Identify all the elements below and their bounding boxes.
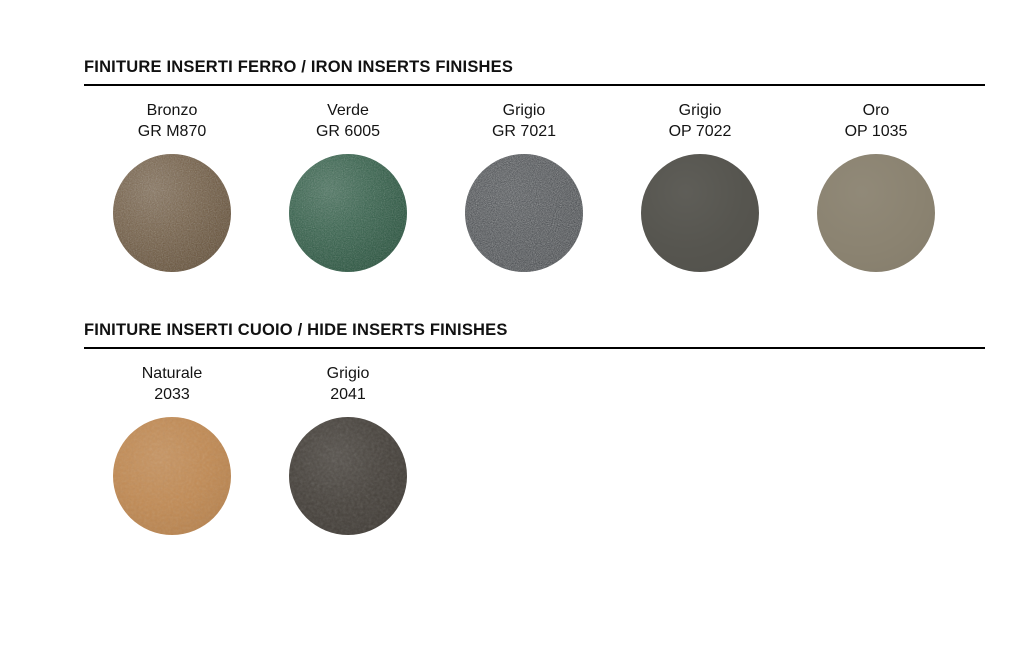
swatch-sheen <box>289 154 407 272</box>
swatch-code: GR M870 <box>138 121 206 142</box>
swatch-sheen <box>113 417 231 535</box>
swatch-disc-oro-1035[interactable] <box>817 154 935 272</box>
swatch-oro-op-1035[interactable]: Oro OP 1035 <box>788 100 964 272</box>
swatch-disc-wrap[interactable] <box>113 154 231 272</box>
swatch-name: Grigio <box>327 363 370 384</box>
swatch-disc-wrap[interactable] <box>465 154 583 272</box>
swatch-code: GR 6005 <box>316 121 380 142</box>
swatch-disc-wrap[interactable] <box>817 154 935 272</box>
swatch-disc-wrap[interactable] <box>113 417 231 535</box>
section-rule-iron <box>84 84 985 86</box>
swatch-caption: Oro OP 1035 <box>845 100 908 142</box>
swatch-name: Oro <box>845 100 908 121</box>
section-rule-hide <box>84 347 985 349</box>
section-header-iron: FINITURE INSERTI FERRO / IRON INSERTS FI… <box>84 58 985 78</box>
section-header-hide: FINITURE INSERTI CUOIO / HIDE INSERTS FI… <box>84 321 985 341</box>
swatch-sheen <box>289 417 407 535</box>
swatch-row-iron: Bronzo GR M870 <box>84 100 985 280</box>
swatch-code: 2033 <box>142 384 202 405</box>
swatch-caption: Grigio GR 7021 <box>492 100 556 142</box>
swatch-bronzo-gr-m870[interactable]: Bronzo GR M870 <box>84 100 260 272</box>
swatch-code: OP 7022 <box>669 121 732 142</box>
swatch-name: Grigio <box>669 100 732 121</box>
swatch-disc-verde[interactable] <box>289 154 407 272</box>
swatch-code: OP 1035 <box>845 121 908 142</box>
swatch-naturale-2033[interactable]: Naturale 2033 <box>84 363 260 535</box>
swatch-disc-grigio-2041[interactable] <box>289 417 407 535</box>
swatch-disc-wrap[interactable] <box>289 154 407 272</box>
swatch-caption: Verde GR 6005 <box>316 100 380 142</box>
swatch-disc-grigio-7022[interactable] <box>641 154 759 272</box>
finishes-sheet: FINITURE INSERTI FERRO / IRON INSERTS FI… <box>0 0 1030 661</box>
swatch-code: GR 7021 <box>492 121 556 142</box>
swatch-caption: Bronzo GR M870 <box>138 100 206 142</box>
swatch-disc-wrap[interactable] <box>289 417 407 535</box>
swatch-sheen <box>641 154 759 272</box>
swatch-name: Grigio <box>492 100 556 121</box>
swatch-disc-naturale[interactable] <box>113 417 231 535</box>
swatch-name: Bronzo <box>138 100 206 121</box>
swatch-grigio-2041[interactable]: Grigio 2041 <box>260 363 436 535</box>
swatch-caption: Naturale 2033 <box>142 363 202 405</box>
swatch-disc-wrap[interactable] <box>641 154 759 272</box>
swatch-disc-grigio-7021[interactable] <box>465 154 583 272</box>
swatch-code: 2041 <box>327 384 370 405</box>
section-iron-inserts: FINITURE INSERTI FERRO / IRON INSERTS FI… <box>84 58 985 86</box>
section-hide-inserts: FINITURE INSERTI CUOIO / HIDE INSERTS FI… <box>84 321 985 349</box>
swatch-grigio-gr-7021[interactable]: Grigio GR 7021 <box>436 100 612 272</box>
swatch-caption: Grigio OP 7022 <box>669 100 732 142</box>
swatch-sheen <box>817 154 935 272</box>
swatch-name: Verde <box>316 100 380 121</box>
swatch-sheen <box>113 154 231 272</box>
swatch-row-hide: Naturale 2033 <box>84 363 985 543</box>
swatch-name: Naturale <box>142 363 202 384</box>
swatch-verde-gr-6005[interactable]: Verde GR 6005 <box>260 100 436 272</box>
swatch-caption: Grigio 2041 <box>327 363 370 405</box>
swatch-grigio-op-7022[interactable]: Grigio OP 7022 <box>612 100 788 272</box>
swatch-sheen <box>465 154 583 272</box>
swatch-disc-bronzo[interactable] <box>113 154 231 272</box>
